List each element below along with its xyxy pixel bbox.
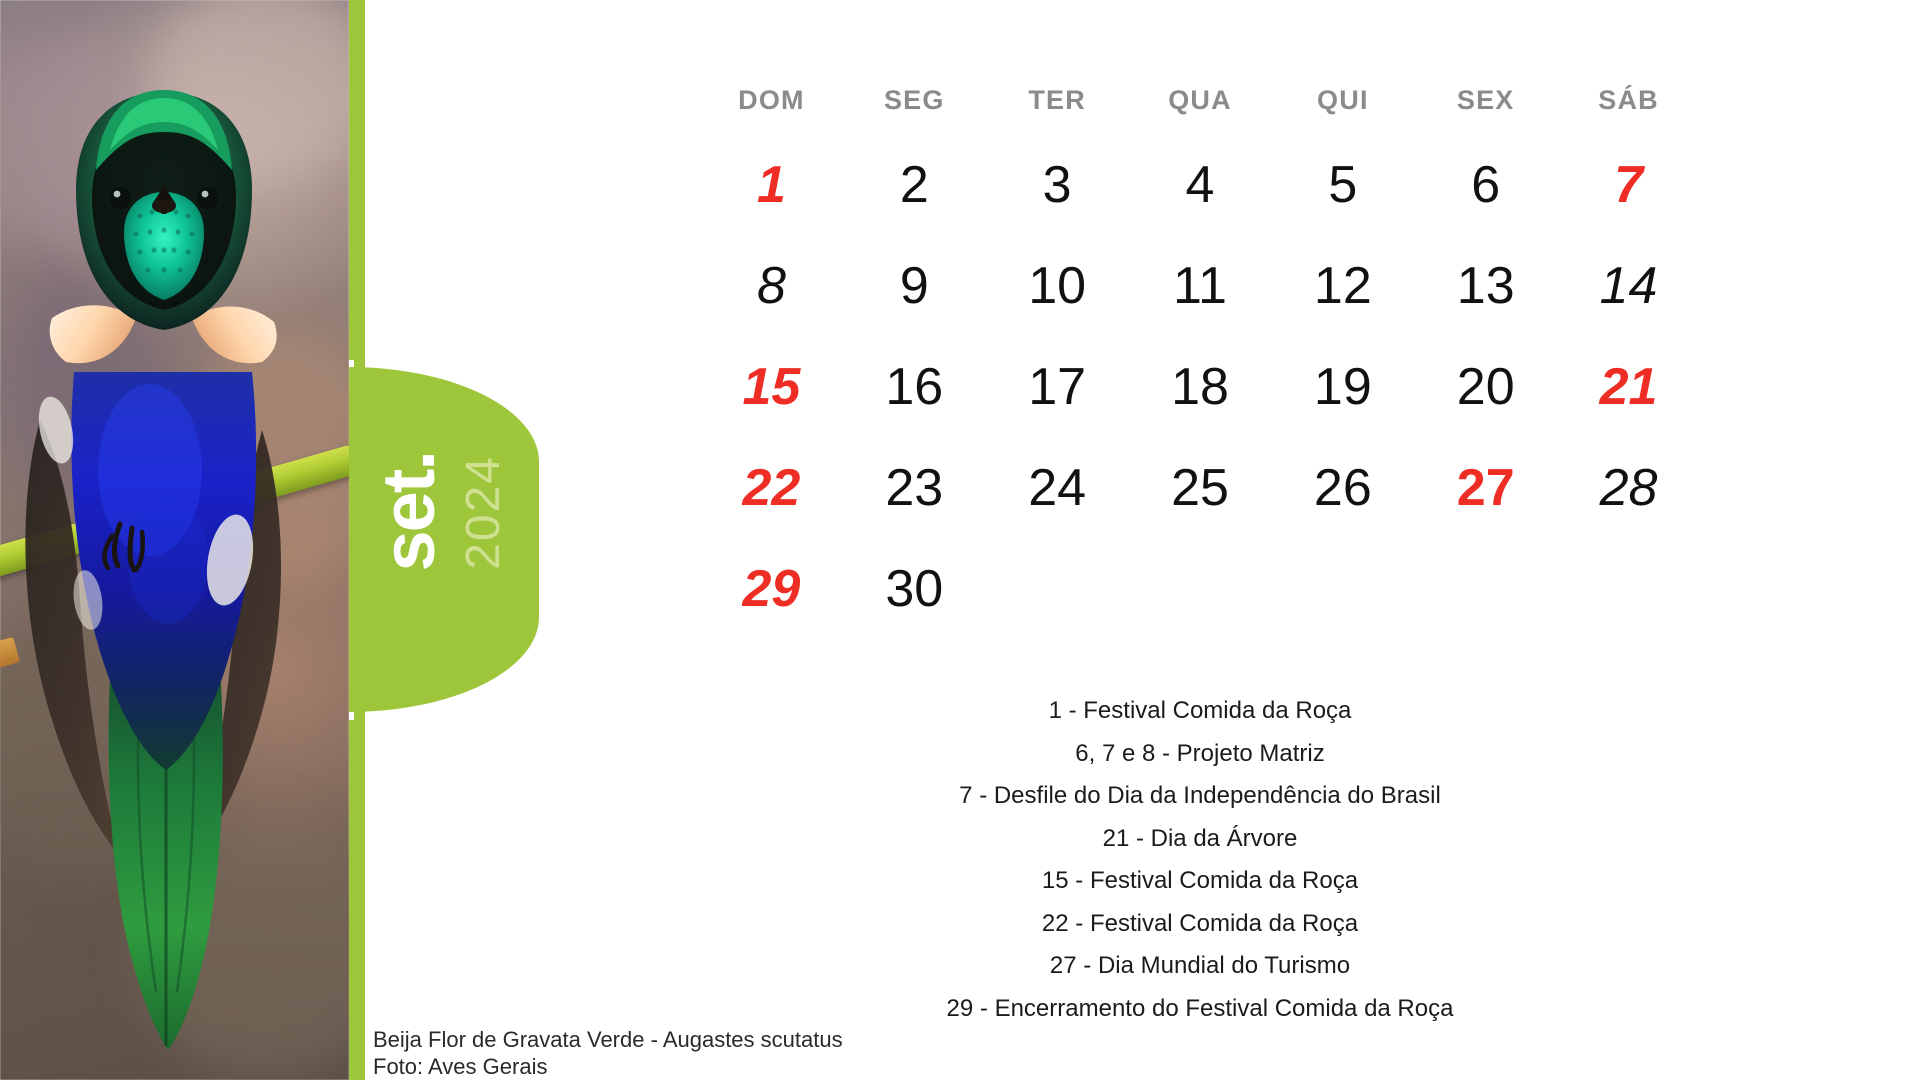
month-name-label: set.	[372, 452, 446, 572]
caption-credit: Foto: Aves Gerais	[373, 1053, 1133, 1080]
calendar-day-14[interactable]: 14	[1557, 235, 1700, 336]
calendar-day-17[interactable]: 17	[986, 336, 1129, 437]
caption-subject: Beija Flor de Gravata Verde - Augastes s…	[373, 1026, 1133, 1053]
event-item: 27 - Dia Mundial do Turismo	[700, 945, 1700, 988]
calendar-week-row: 22232425262728	[700, 437, 1700, 538]
event-item: 21 - Dia da Árvore	[700, 818, 1700, 861]
calendar-day-3[interactable]: 3	[986, 134, 1129, 235]
weekday-header-sex: SEX	[1414, 85, 1557, 134]
calendar-day-4[interactable]: 4	[1129, 134, 1272, 235]
event-item: 6, 7 e 8 - Projeto Matriz	[700, 733, 1700, 776]
hummingbird-photo	[0, 0, 349, 1080]
calendar-day-6[interactable]: 6	[1414, 134, 1557, 235]
hummingbird-illustration	[0, 0, 349, 1080]
calendar-day-29[interactable]: 29	[700, 538, 843, 639]
weekday-header-qui: QUI	[1271, 85, 1414, 134]
calendar-week-row: 15161718192021	[700, 336, 1700, 437]
calendar-grid: DOMSEGTERQUAQUISEXSÁB 123456789101112131…	[700, 85, 1700, 639]
calendar-day-2[interactable]: 2	[843, 134, 986, 235]
month-year-label: 2024	[460, 455, 508, 570]
weekday-header-sáb: SÁB	[1557, 85, 1700, 134]
calendar-day-11[interactable]: 11	[1129, 235, 1272, 336]
calendar-day-8[interactable]: 8	[700, 235, 843, 336]
calendar-day-18[interactable]: 18	[1129, 336, 1272, 437]
calendar-day-26[interactable]: 26	[1271, 437, 1414, 538]
calendar-day-9[interactable]: 9	[843, 235, 986, 336]
calendar-day-15[interactable]: 15	[700, 336, 843, 437]
calendar-day-13[interactable]: 13	[1414, 235, 1557, 336]
calendar-day-12[interactable]: 12	[1271, 235, 1414, 336]
event-item: 15 - Festival Comida da Roça	[700, 860, 1700, 903]
weekday-header-qua: QUA	[1129, 85, 1272, 134]
calendar-day-30[interactable]: 30	[843, 538, 986, 639]
calendar-day-23[interactable]: 23	[843, 437, 986, 538]
calendar-day-27[interactable]: 27	[1414, 437, 1557, 538]
calendar-day-16[interactable]: 16	[843, 336, 986, 437]
photo-caption: Beija Flor de Gravata Verde - Augastes s…	[373, 1026, 1133, 1080]
weekday-header-row: DOMSEGTERQUAQUISEXSÁB	[700, 85, 1700, 134]
calendar-week-row: 1234567	[700, 134, 1700, 235]
calendar-week-row: 2930	[700, 538, 1700, 639]
calendar-day-21[interactable]: 21	[1557, 336, 1700, 437]
calendar-day-25[interactable]: 25	[1129, 437, 1272, 538]
weekday-header-dom: DOM	[700, 85, 843, 134]
calendar-day-1[interactable]: 1	[700, 134, 843, 235]
event-item: 29 - Encerramento do Festival Comida da …	[700, 988, 1700, 1031]
calendar-week-row: 891011121314	[700, 235, 1700, 336]
event-item: 1 - Festival Comida da Roça	[700, 690, 1700, 733]
event-item: 22 - Festival Comida da Roça	[700, 903, 1700, 946]
calendar-day-24[interactable]: 24	[986, 437, 1129, 538]
calendar-day-22[interactable]: 22	[700, 437, 843, 538]
date-rows: 1234567891011121314151617181920212223242…	[700, 134, 1700, 639]
calendar-day-28[interactable]: 28	[1557, 437, 1700, 538]
calendar-day-7[interactable]: 7	[1557, 134, 1700, 235]
calendar-page: set. 2024 DOMSEGTERQUAQUISEXSÁB 12345678…	[0, 0, 1920, 1080]
calendar-day-5[interactable]: 5	[1271, 134, 1414, 235]
calendar-day-10[interactable]: 10	[986, 235, 1129, 336]
weekday-header-seg: SEG	[843, 85, 986, 134]
weekday-header-ter: TER	[986, 85, 1129, 134]
calendar-day-20[interactable]: 20	[1414, 336, 1557, 437]
event-item: 7 - Desfile do Dia da Independência do B…	[700, 775, 1700, 818]
calendar-day-19[interactable]: 19	[1271, 336, 1414, 437]
events-list: 1 - Festival Comida da Roça6, 7 e 8 - Pr…	[700, 690, 1700, 1030]
